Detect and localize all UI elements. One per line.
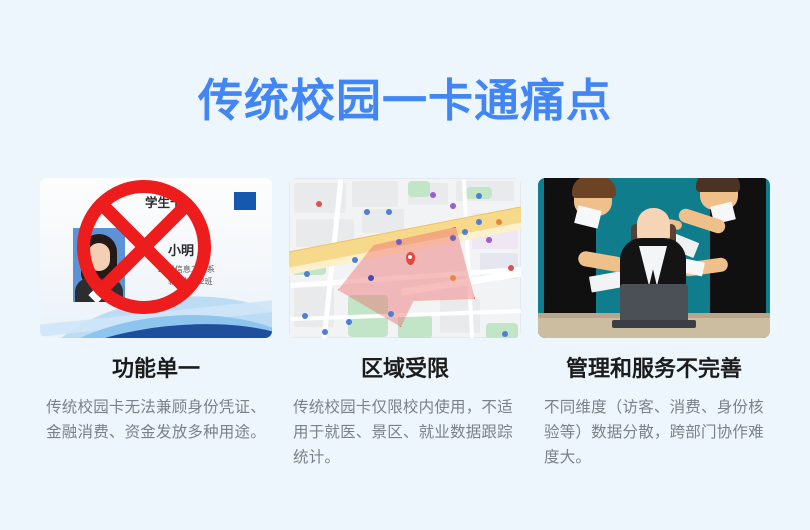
map-poi-dot <box>450 203 456 209</box>
colleague-left-hair <box>572 178 616 198</box>
prohibition-x-icon <box>77 180 211 314</box>
map-canvas <box>289 178 521 338</box>
card-heading: 功能单一 <box>40 355 272 383</box>
laptop-base <box>612 320 696 328</box>
map-poi-dot <box>386 209 392 215</box>
map-poi-dot <box>396 239 402 245</box>
card-management: 管理和服务不完善 不同维度（访客、消费、身份核验等）数据分散，跨部门协作难度大。 <box>538 178 770 470</box>
map-block <box>352 181 398 207</box>
page-title: 传统校园一卡通痛点 <box>0 74 810 128</box>
map-poi-dot <box>462 229 468 235</box>
map-poi-dot <box>476 219 482 225</box>
map-poi-dot <box>368 275 374 281</box>
map-poi-dot <box>388 311 394 317</box>
map-poi-dot <box>364 209 370 215</box>
card-area-limited: 区域受限 传统校园卡仅限校内使用，不适用于就医、景区、就业数据跟踪统计。 <box>289 178 521 470</box>
map-image <box>289 178 521 338</box>
office-illustration <box>538 178 770 338</box>
card-body-text: 传统校园卡无法兼顾身份凭证、金融消费、资金发放多种用途。 <box>40 395 272 445</box>
map-poi-dot <box>450 235 456 241</box>
cards-row: 学生卡 小明 23级信息工程系 软件技术2班 功能单一 <box>40 178 770 470</box>
map-block <box>440 299 480 333</box>
card-body-text: 不同维度（访客、消费、身份核验等）数据分散，跨部门协作难度大。 <box>538 395 770 470</box>
map-poi-dot <box>486 237 492 243</box>
map-poi-dot <box>502 331 508 337</box>
laptop-screen <box>620 284 688 322</box>
map-poi-dot <box>316 201 322 207</box>
map-poi-dot <box>476 193 482 199</box>
card-functionality: 学生卡 小明 23级信息工程系 软件技术2班 功能单一 <box>40 178 272 445</box>
card-body-text: 传统校园卡仅限校内使用，不适用于就医、景区、就业数据跟踪统计。 <box>289 395 521 470</box>
slide-root: 传统校园一卡通痛点 学生卡 <box>0 0 810 530</box>
colleague-right-hair <box>696 178 740 192</box>
map-poi-dot <box>304 271 310 277</box>
student-id-card-image: 学生卡 小明 23级信息工程系 软件技术2班 <box>40 178 272 338</box>
map-poi-dot <box>508 265 514 271</box>
office-illustration-image <box>538 178 770 338</box>
map-green-area <box>408 181 430 197</box>
map-poi-dot <box>322 329 328 335</box>
map-poi-dot <box>302 313 308 319</box>
map-poi-dot <box>352 257 358 263</box>
map-poi-dot <box>496 219 502 225</box>
map-poi-dot <box>430 192 436 198</box>
map-poi-dot <box>450 275 456 281</box>
card-chip <box>234 192 256 210</box>
map-poi-dot <box>346 319 352 325</box>
card-heading: 区域受限 <box>289 355 521 383</box>
card-heading: 管理和服务不完善 <box>538 355 770 383</box>
